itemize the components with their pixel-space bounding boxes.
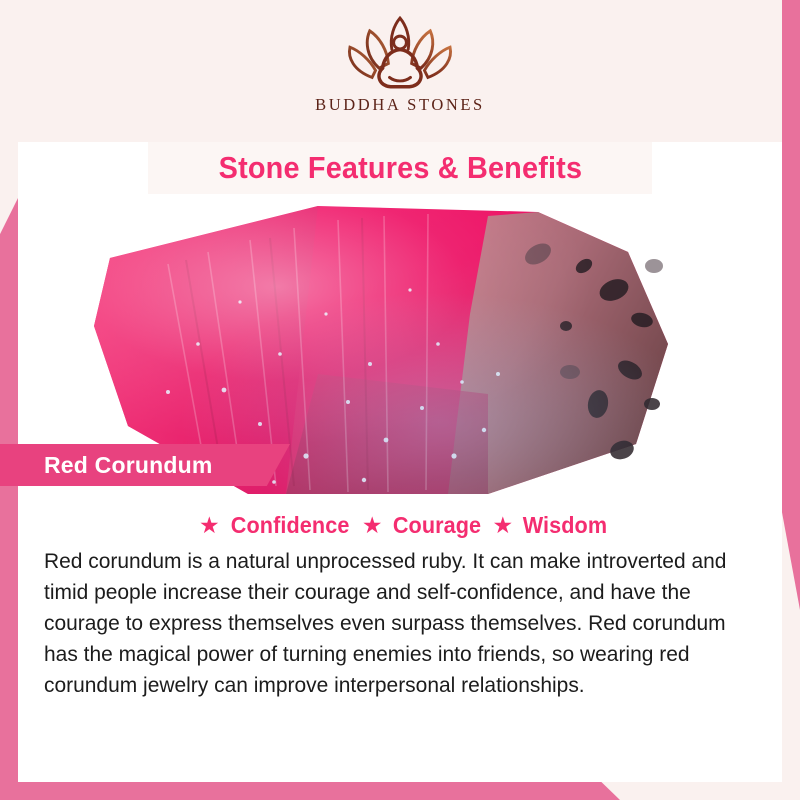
stone-name-banner: Red Corundum <box>0 444 290 486</box>
page-title: Stone Features & Benefits <box>218 150 582 186</box>
keyword-item-wisdom: ★ Wisdom <box>484 512 610 539</box>
star-icon: ★ <box>199 514 220 537</box>
keyword-list: ★ Confidence ★ Courage ★ Wisdom <box>18 508 782 542</box>
keyword-label: Confidence <box>230 512 349 539</box>
frame-border-bottom <box>0 782 620 800</box>
brand-name: BUDDHA STONES <box>315 95 485 115</box>
lotus-meditation-icon <box>336 14 464 92</box>
keyword-item-confidence: ★ Confidence <box>190 512 353 539</box>
frame-border-left <box>0 198 18 800</box>
stone-benefits-poster: BUDDHA STONES <box>0 0 800 800</box>
keyword-item-courage: ★ Courage <box>353 512 484 539</box>
stone-name-label: Red Corundum <box>44 452 213 479</box>
stone-description: Red corundum is a natural unprocessed ru… <box>44 546 742 701</box>
star-icon: ★ <box>362 514 383 537</box>
star-icon: ★ <box>493 514 514 537</box>
frame-border-right <box>782 0 800 610</box>
keyword-label: Courage <box>392 512 480 539</box>
keyword-label: Wisdom <box>523 512 607 539</box>
section-title-band: Stone Features & Benefits <box>148 142 652 194</box>
brand-header: BUDDHA STONES <box>18 0 782 142</box>
